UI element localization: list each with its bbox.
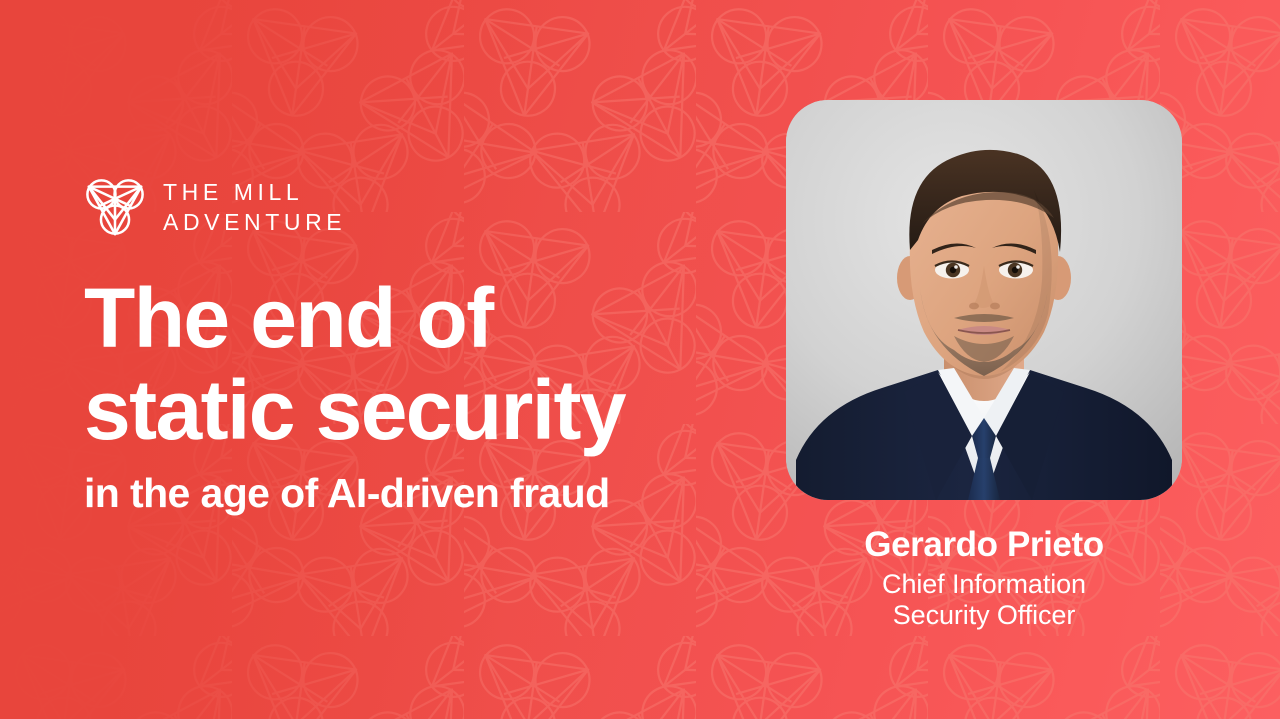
speaker-role: Chief Information Security Officer [786, 569, 1182, 631]
slide-subheadline: in the age of AI-driven fraud [84, 468, 610, 518]
brand-logo[interactable]: THE MILL ADVENTURE [84, 174, 346, 240]
speaker-name: Gerardo Prieto [786, 524, 1182, 566]
speaker-identity: Gerardo Prieto Chief Information Securit… [786, 524, 1182, 631]
brand-wordmark: THE MILL ADVENTURE [163, 177, 346, 237]
speaker-role-line-2: Security Officer [786, 600, 1182, 631]
brand-wordmark-line-2: ADVENTURE [163, 207, 346, 237]
brand-wordmark-line-1: THE MILL [163, 177, 346, 207]
headline-line-2: static security [84, 364, 625, 456]
presentation-slide: THE MILL ADVENTURE The end of static sec… [0, 0, 1280, 719]
mill-adventure-trefoil-logo-icon [84, 174, 146, 240]
speaker-portrait-photo [786, 100, 1182, 500]
speaker-role-line-1: Chief Information [786, 569, 1182, 600]
slide-headline: The end of static security [84, 272, 625, 456]
headline-line-1: The end of [84, 272, 625, 364]
